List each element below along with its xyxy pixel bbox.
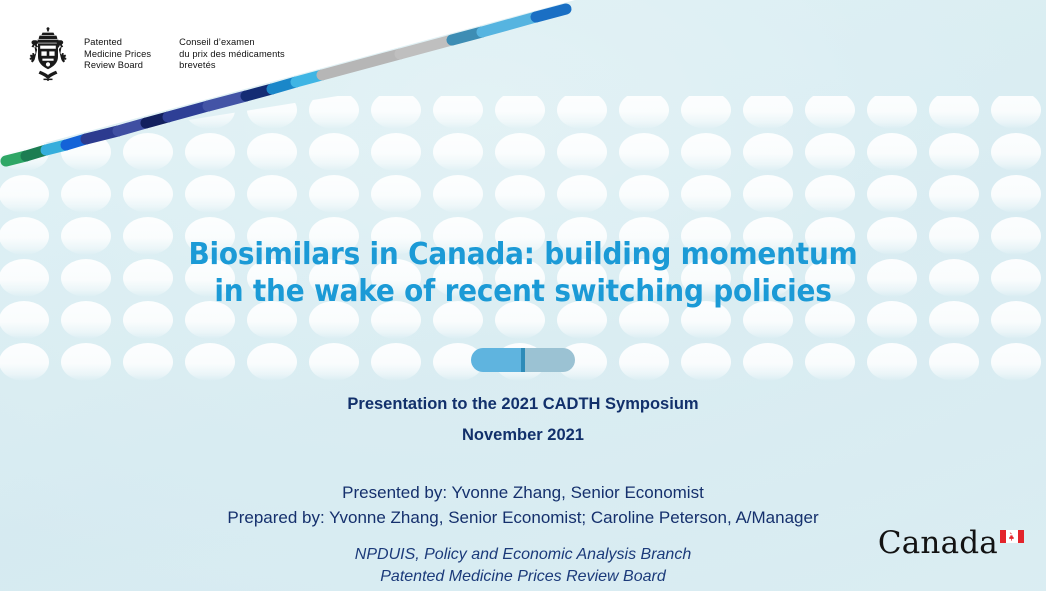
branch-line-2: Patented Medicine Prices Review Board (0, 566, 1046, 588)
event-date: November 2021 (0, 420, 1046, 451)
capsule-center-divider (521, 348, 525, 372)
pmprb-fr-line1: Conseil d’examen (179, 37, 285, 49)
pmprb-wordmark: Patented Medicine Prices Review Board Co… (84, 26, 285, 72)
pmprb-en-line2: Medicine Prices (84, 49, 151, 61)
pmprb-logo: Patented Medicine Prices Review Board Co… (26, 26, 285, 82)
event-name: Presentation to the 2021 CADTH Symposium (0, 389, 1046, 420)
capsule-left-half (471, 348, 523, 372)
canada-flag-icon (1000, 530, 1024, 543)
slide-title: Biosimilars in Canada: building momentum… (37, 236, 1010, 310)
presenter-credits: Presented by: Yvonne Zhang, Senior Econo… (0, 481, 1046, 530)
slide-title-line-2: in the wake of recent switching policies (37, 273, 1010, 310)
canada-wordmark: Canada (878, 528, 1024, 559)
pmprb-en-line3: Review Board (84, 60, 151, 72)
capsule-right-half (523, 348, 575, 372)
canadian-coat-of-arms-icon (26, 26, 70, 82)
pmprb-fr-line2: du prix des médicaments (179, 49, 285, 61)
pmprb-fr-line3: brevetés (179, 60, 285, 72)
pmprb-en-line1: Patented (84, 37, 151, 49)
presented-by: Presented by: Yvonne Zhang, Senior Econo… (0, 481, 1046, 506)
pmprb-wordmark-english: Patented Medicine Prices Review Board (84, 37, 151, 72)
slide-title-line-1: Biosimilars in Canada: building momentum (37, 236, 1010, 273)
capsule-divider (0, 348, 1046, 372)
pmprb-wordmark-french: Conseil d’examen du prix des médicaments… (179, 37, 285, 72)
canada-wordmark-text: Canada (878, 528, 998, 559)
capsule-pill-icon (471, 348, 575, 372)
presentation-slide: Patented Medicine Prices Review Board Co… (0, 0, 1046, 591)
slide-subtitle: Presentation to the 2021 CADTH Symposium… (0, 389, 1046, 451)
